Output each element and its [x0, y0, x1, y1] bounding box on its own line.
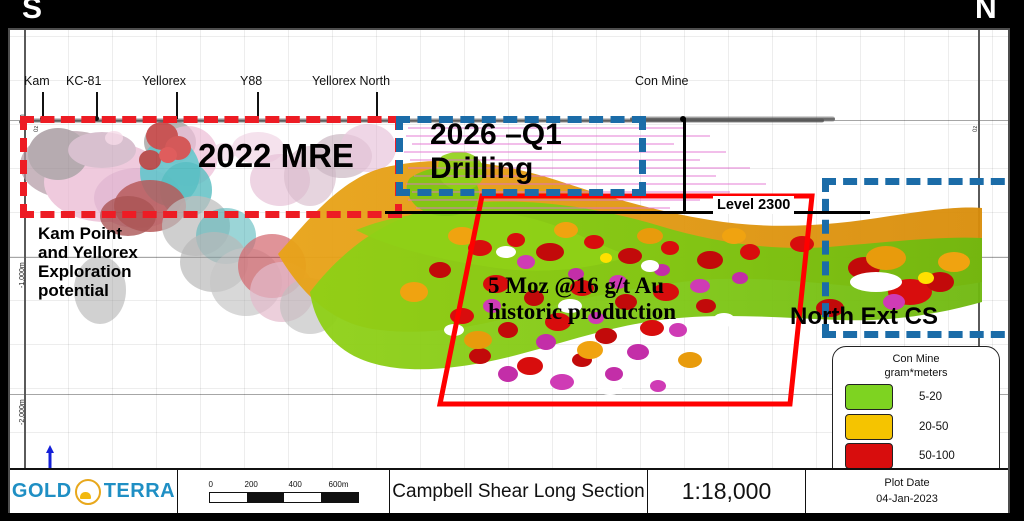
scale-tick-600m: 600m — [329, 480, 349, 489]
scale-bar-graphic — [209, 492, 359, 503]
section-plot-area: 0m -1,000m -2,000m 0z 0z — [10, 30, 1008, 468]
collar-label-yellorex-north: Yellorex North — [312, 74, 390, 88]
scale-tick-400: 400 — [289, 480, 302, 489]
section-title: Campbell Shear Long Section — [390, 470, 648, 513]
axis-orientation-icon — [40, 442, 92, 468]
collar-tick-kc81 — [96, 92, 98, 119]
annotation-north-ext-cs: North Ext CS — [790, 304, 938, 331]
legend-swatch-50-100 — [845, 443, 893, 468]
legend-label-50-100: 50-100 — [919, 450, 955, 462]
plot-date-label: Plot Date — [884, 476, 929, 492]
title-block: GOLD TERRA 0 200 400 600m — [10, 468, 1008, 513]
collar-label-con-mine: Con Mine — [635, 74, 689, 88]
legend-title-line1: Con Mine — [833, 353, 999, 367]
legend-title: Con Mine gram*meters — [833, 353, 999, 381]
scale-bar-ticks: 0 200 400 600m — [209, 480, 359, 492]
collar-label-kam: Kam — [24, 74, 50, 88]
topography-line-north — [630, 116, 835, 122]
legend-swatch-20-50 — [845, 414, 893, 440]
legend-label-20-50: 20-50 — [919, 421, 948, 433]
plot-date-value: 04-Jan-2023 — [876, 492, 938, 508]
annotation-kam-point-potential: Kam Point and Yellorex Exploration poten… — [38, 224, 138, 300]
company-logo: GOLD TERRA — [10, 470, 178, 513]
logo-emblem-icon — [75, 479, 101, 505]
level-2300-label: Level 2300 — [713, 196, 794, 214]
long-section-figure: S N 0m -1,000m -2,000m 0z 0z — [0, 0, 1024, 521]
con-mine-collar-dot — [680, 116, 686, 122]
collar-label-yellorex: Yellorex — [142, 74, 186, 88]
collar-label-kc81: KC-81 — [66, 74, 101, 88]
legend-swatch-5-20 — [845, 384, 893, 410]
logo-text-gold: GOLD — [12, 480, 72, 503]
collar-tick-yellorex — [176, 92, 178, 119]
scale-tick-200: 200 — [245, 480, 258, 489]
collar-tick-kam — [42, 92, 44, 119]
legend-row-5-20: 5-20 — [845, 384, 999, 410]
legend-panel: Con Mine gram*meters 5-20 20-50 50-100 — [832, 346, 1000, 468]
collar-tick-yellorex-north — [376, 92, 378, 119]
scale-bar: 0 200 400 600m — [178, 470, 390, 513]
logo-text-terra: TERRA — [104, 480, 175, 503]
scale-ratio: 1:18,000 — [648, 470, 806, 513]
legend-title-line2: gram*meters — [833, 367, 999, 381]
annotation-historic-production: 5 Moz @16 g/t Au historic production — [488, 273, 676, 325]
legend-row-50-100: 50-100 — [845, 443, 999, 468]
collar-tick-y88 — [257, 92, 259, 119]
compass-north-label: N — [975, 0, 997, 24]
legend-row-20-50: 20-50 — [845, 414, 999, 440]
legend-label-5-20: 5-20 — [919, 391, 942, 403]
scale-tick-0: 0 — [209, 480, 213, 489]
plot-date-cell: Plot Date 04-Jan-2023 — [806, 470, 1008, 513]
collar-label-y88: Y88 — [240, 74, 262, 88]
level-2300-line — [385, 211, 870, 214]
annotation-2026-q1-drilling: 2026 –Q1 Drilling — [430, 118, 562, 185]
plot-sheet: 0m -1,000m -2,000m 0z 0z — [8, 28, 1010, 513]
compass-south-label: S — [22, 0, 42, 24]
annotation-2022-mre: 2022 MRE — [198, 138, 354, 175]
con-mine-shaft-line — [683, 118, 686, 214]
